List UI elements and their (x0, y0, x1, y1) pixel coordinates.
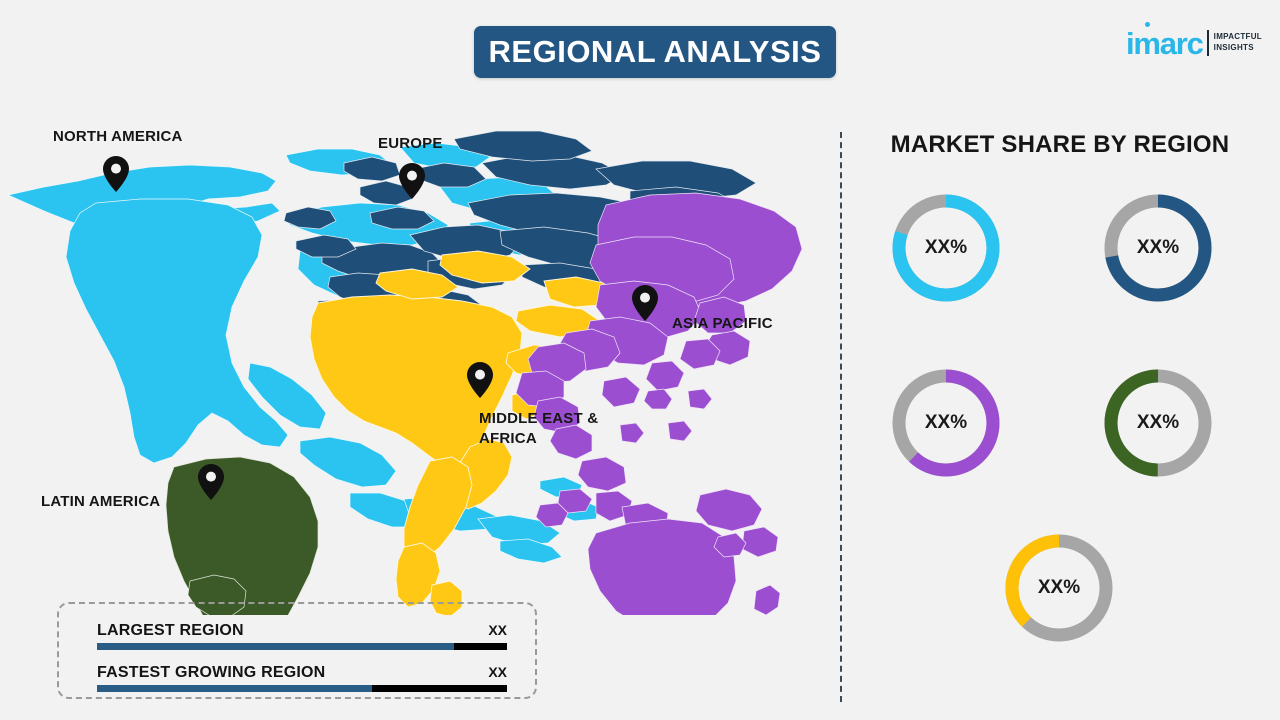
donut-label: XX% (886, 188, 1006, 308)
donut-chart-europe: XX% (1098, 188, 1218, 308)
legend-progress-track (97, 685, 507, 692)
region-label-asia-pacific: ASIA PACIFIC (672, 314, 773, 334)
region-label-north-america: NORTH AMERICA (53, 127, 183, 147)
logo-dot-icon (1145, 22, 1150, 27)
panel-divider (840, 132, 842, 702)
map-pin-north-america (103, 156, 129, 192)
map-pin-middle-east-africa (467, 362, 493, 398)
donut-label: XX% (886, 363, 1006, 483)
legend-progress-fill (97, 685, 372, 692)
world-map (0, 95, 830, 615)
donut-chart-north-america: XX% (886, 188, 1006, 308)
logo-wordmark: imarc (1126, 28, 1203, 59)
logo-divider (1207, 30, 1209, 56)
panel-title: MARKET SHARE BY REGION (860, 131, 1260, 159)
region-label-middle-east-africa: MIDDLE EAST & AFRICA (479, 409, 598, 450)
logo-tagline-line2: INSIGHTS (1214, 43, 1262, 54)
region-label-europe: EUROPE (378, 134, 443, 154)
map-pin-asia-pacific (632, 285, 658, 321)
logo-tagline: IMPACTFUL INSIGHTS (1214, 32, 1262, 54)
donut-chart-asia-pacific: XX% (886, 363, 1006, 483)
regional-analysis-infographic: REGIONAL ANALYSIS imarc IMPACTFUL INSIGH… (0, 0, 1280, 720)
imarc-logo: imarc IMPACTFUL INSIGHTS (1126, 26, 1262, 60)
map-pin-latin-america (198, 464, 224, 500)
page-title: REGIONAL ANALYSIS (489, 34, 822, 70)
region-summary-box: LARGEST REGION XX FASTEST GROWING REGION… (57, 602, 537, 699)
legend-row-fastest-growing-region: FASTEST GROWING REGION XX (97, 664, 507, 692)
donut-label: XX% (1098, 363, 1218, 483)
donut-label: XX% (999, 528, 1119, 648)
donut-chart-middle-east-africa: XX% (999, 528, 1119, 648)
legend-row-largest-region: LARGEST REGION XX (97, 622, 507, 650)
donut-chart-latin-america: XX% (1098, 363, 1218, 483)
legend-label: LARGEST REGION (97, 622, 244, 640)
logo-tagline-line1: IMPACTFUL (1214, 32, 1262, 43)
donut-label: XX% (1098, 188, 1218, 308)
legend-value: XX (488, 622, 507, 638)
map-pin-europe (399, 163, 425, 199)
region-label-latin-america: LATIN AMERICA (41, 492, 160, 512)
legend-value: XX (488, 664, 507, 680)
page-title-banner: REGIONAL ANALYSIS (474, 26, 836, 78)
legend-progress-fill (97, 643, 454, 650)
legend-label: FASTEST GROWING REGION (97, 664, 325, 682)
legend-progress-track (97, 643, 507, 650)
map-region-latin-america (166, 457, 318, 615)
